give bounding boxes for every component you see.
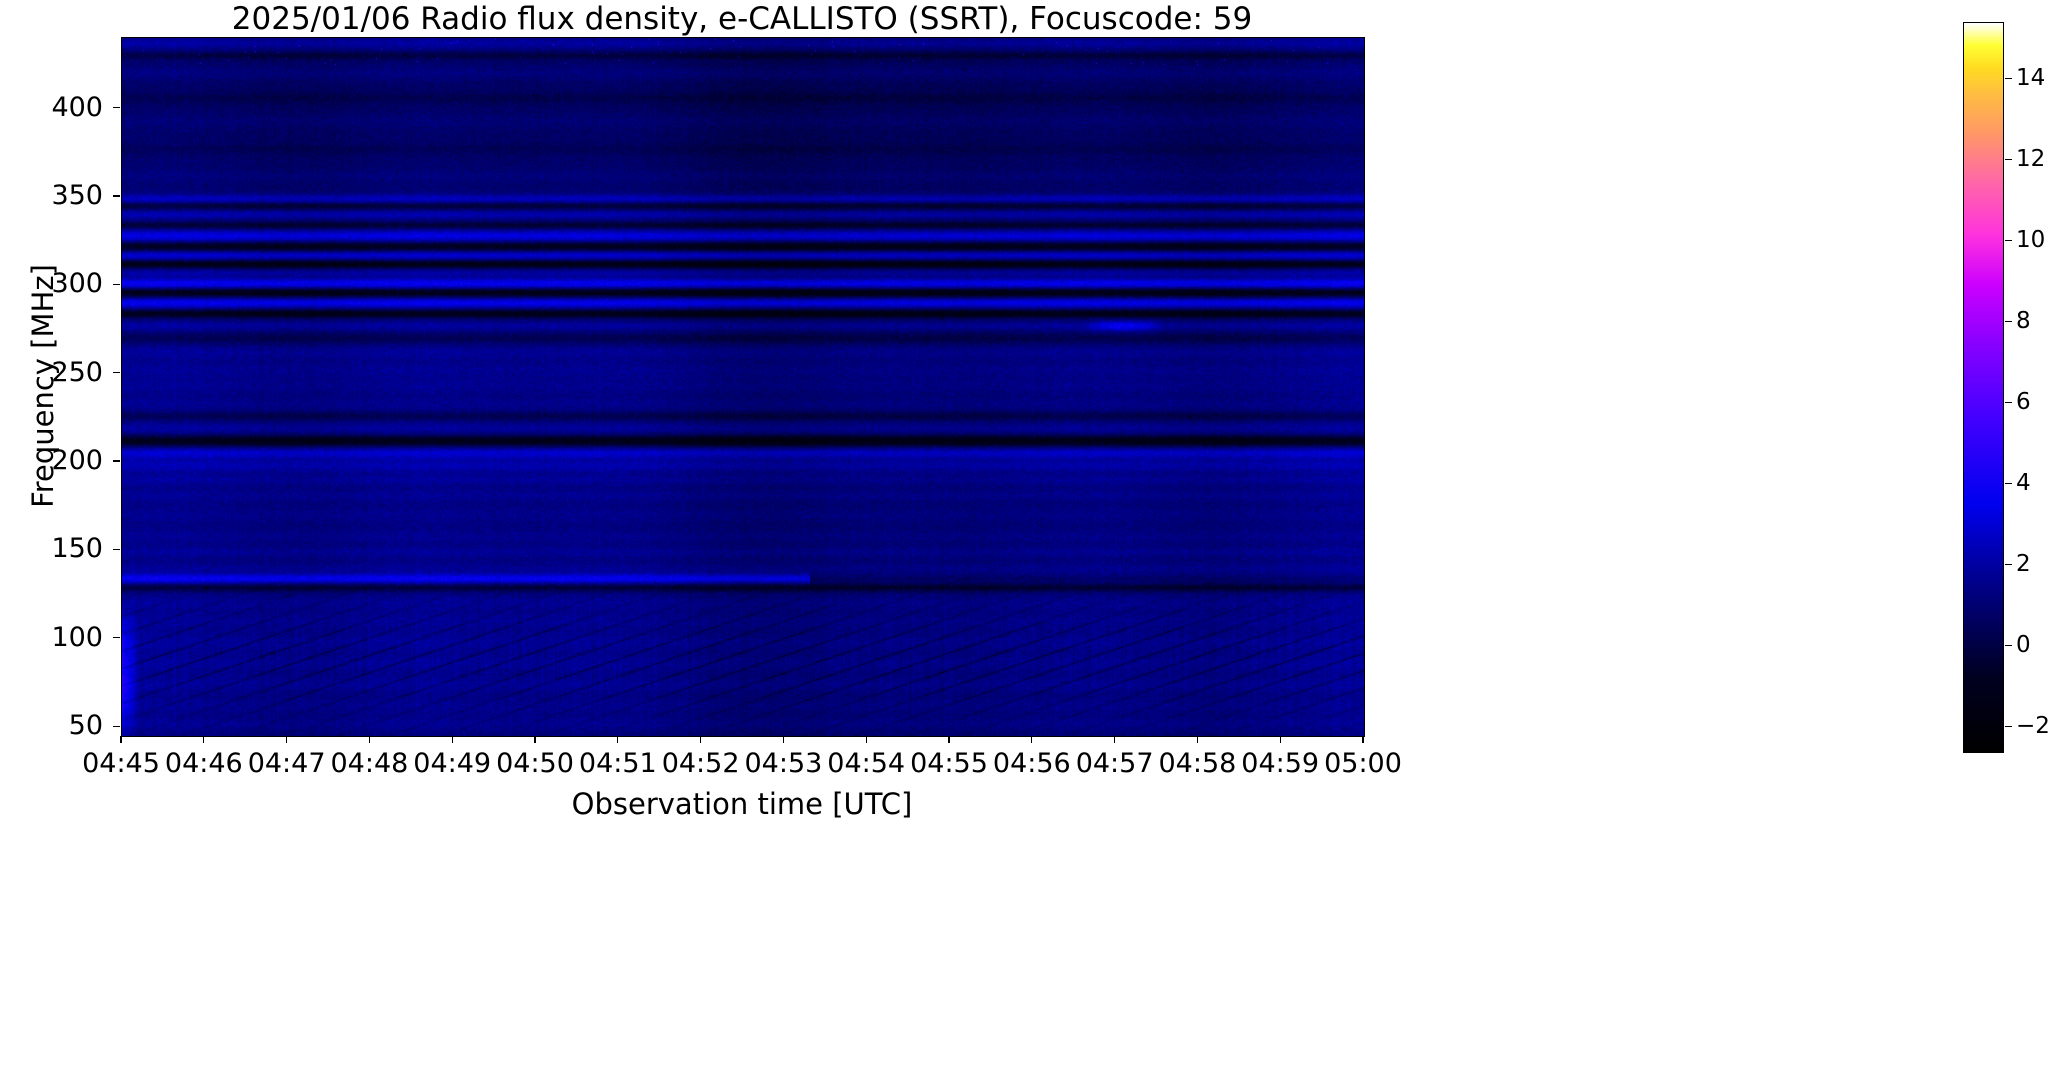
y-tick-mark [113, 107, 120, 108]
colorbar-tick-label: −2 [2016, 715, 2050, 738]
x-tick-mark [948, 736, 949, 743]
colorbar-tick-mark [2005, 645, 2012, 646]
y-tick-mark [113, 549, 120, 550]
y-axis-label: Frequency [MHz] [26, 264, 60, 508]
x-tick-mark [617, 736, 618, 743]
x-tick-mark [203, 736, 204, 743]
colorbar-tick-label: 6 [2016, 391, 2031, 414]
colorbar-tick-mark [2005, 321, 2012, 322]
x-tick-mark [369, 736, 370, 743]
spectrogram-image [122, 38, 1364, 736]
colorbar-tick-label: 2 [2016, 553, 2031, 576]
x-tick-mark [1280, 736, 1281, 743]
colorbar-tick-mark [2005, 483, 2012, 484]
x-tick-mark [700, 736, 701, 743]
y-tick-label: 400 [21, 94, 103, 121]
x-tick-mark [452, 736, 453, 743]
figure-title: 2025/01/06 Radio flux density, e-CALLIST… [121, 2, 1363, 36]
x-tick-mark [1362, 736, 1363, 743]
colorbar-tick-mark [2005, 402, 2012, 403]
y-tick-mark [113, 726, 120, 727]
x-tick-label: 05:00 [1293, 749, 1433, 779]
y-tick-label: 350 [21, 182, 103, 209]
colorbar-tick-label: 8 [2016, 310, 2031, 333]
x-tick-mark [1031, 736, 1032, 743]
colorbar-gradient [1964, 23, 2003, 752]
colorbar-tick-mark [2005, 726, 2012, 727]
y-tick-mark [113, 460, 120, 461]
colorbar-tick-mark [2005, 78, 2012, 79]
x-tick-mark [866, 736, 867, 743]
colorbar-tick-label: 0 [2016, 634, 2031, 657]
x-tick-mark [783, 736, 784, 743]
x-axis-label: Observation time [UTC] [121, 787, 1363, 821]
spectrogram-plot-area [121, 37, 1365, 737]
y-tick-label: 100 [21, 624, 103, 651]
colorbar-tick-label: 14 [2016, 67, 2045, 90]
colorbar-tick-mark [2005, 240, 2012, 241]
spectrogram-figure: 2025/01/06 Radio flux density, e-CALLIST… [0, 0, 2066, 1067]
colorbar-tick-label: 10 [2016, 229, 2045, 252]
x-tick-mark [286, 736, 287, 743]
colorbar-tick-label: 4 [2016, 472, 2031, 495]
y-tick-mark [113, 372, 120, 373]
colorbar-tick-label: 12 [2016, 148, 2045, 171]
x-tick-mark [534, 736, 535, 743]
x-tick-mark [120, 736, 121, 743]
colorbar-tick-mark [2005, 564, 2012, 565]
colorbar-tick-mark [2005, 159, 2012, 160]
y-tick-label: 150 [21, 535, 103, 562]
y-tick-mark [113, 195, 120, 196]
x-tick-mark [1114, 736, 1115, 743]
y-tick-label: 50 [21, 712, 103, 739]
colorbar [1963, 22, 2004, 753]
y-tick-mark [113, 637, 120, 638]
x-tick-mark [1197, 736, 1198, 743]
y-tick-mark [113, 284, 120, 285]
